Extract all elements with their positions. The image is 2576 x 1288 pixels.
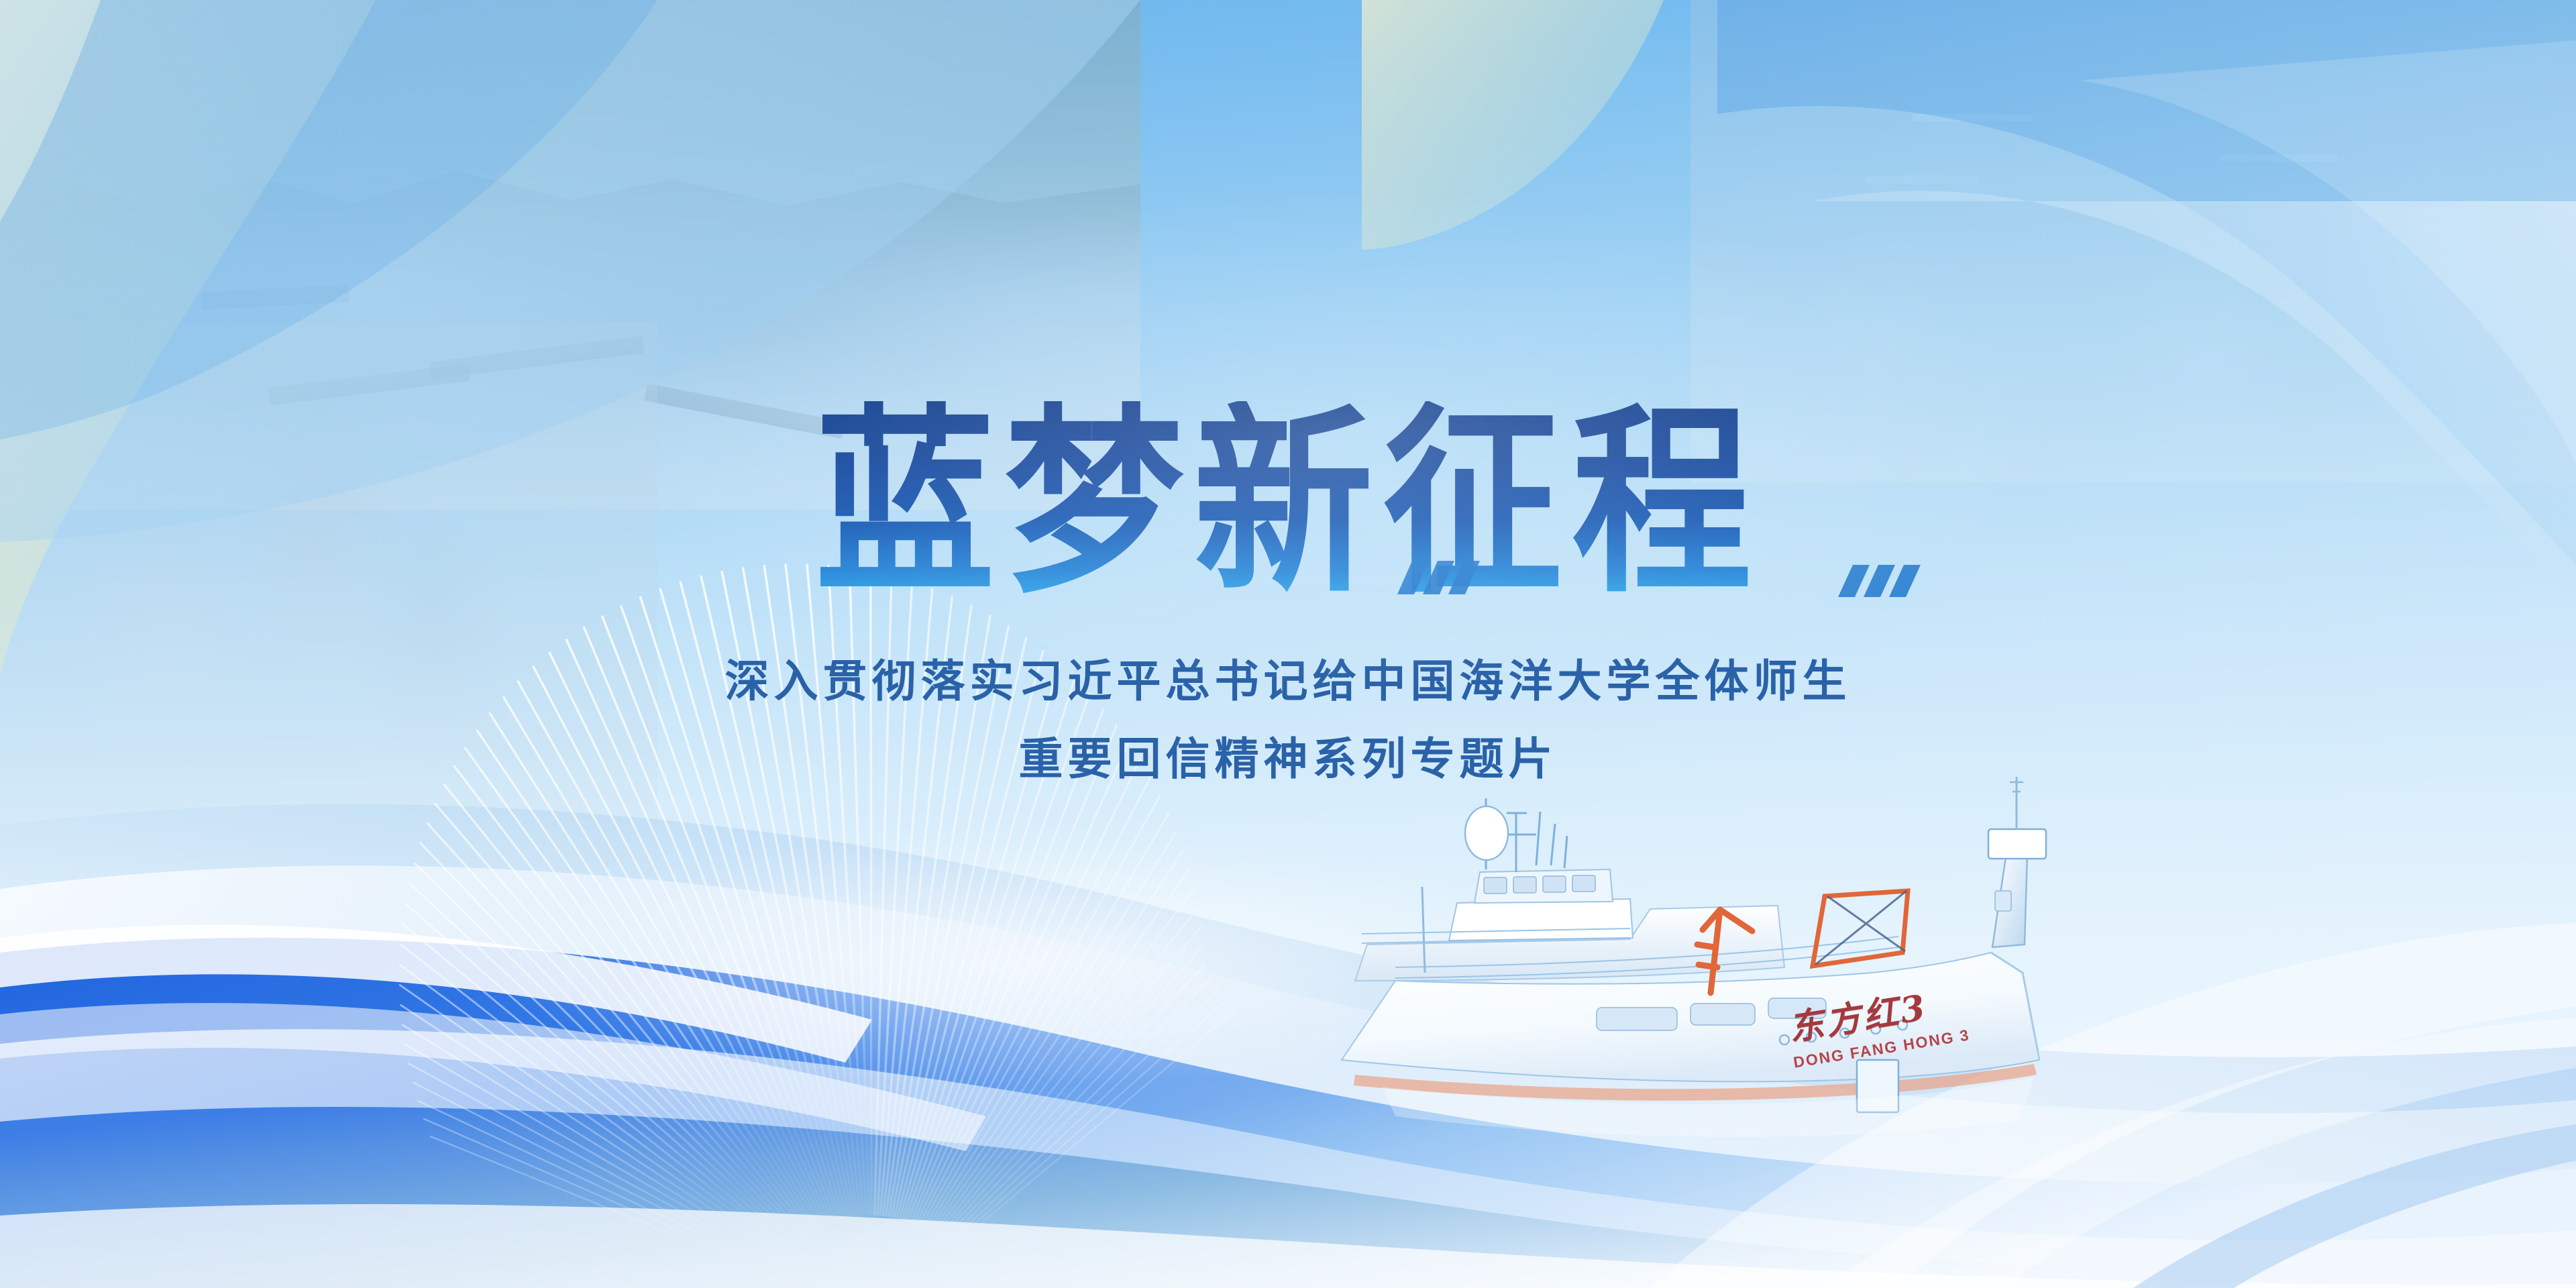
decorative-wave-layer bbox=[0, 0, 2576, 1288]
vessel-radar-dome bbox=[1465, 806, 1508, 860]
vessel-bridge-deck bbox=[1449, 899, 1633, 941]
research-vessel: 东方红3 DONG FANG HONG 3 bbox=[1315, 771, 2106, 1147]
poster-canvas: 东方红3 DONG FANG HONG 3 蓝梦新征程 深入贯彻落实习近平总书记… bbox=[0, 0, 2576, 1288]
page-title: 蓝梦新征程 bbox=[815, 401, 1761, 606]
ribbon-cream-right bbox=[1362, 0, 1664, 250]
title-block: 蓝梦新征程 bbox=[0, 401, 2576, 584]
vessel-illustration bbox=[1315, 771, 2106, 1147]
subtitle-line-1: 深入贯彻落实习近平总书记给中国海洋大学全体师生 bbox=[0, 645, 2576, 710]
vessel-main-mast bbox=[1988, 777, 2046, 947]
vessel-antenna-array bbox=[1536, 812, 1567, 868]
subtitle-line-2: 重要回信精神系列专题片 bbox=[0, 723, 2576, 788]
